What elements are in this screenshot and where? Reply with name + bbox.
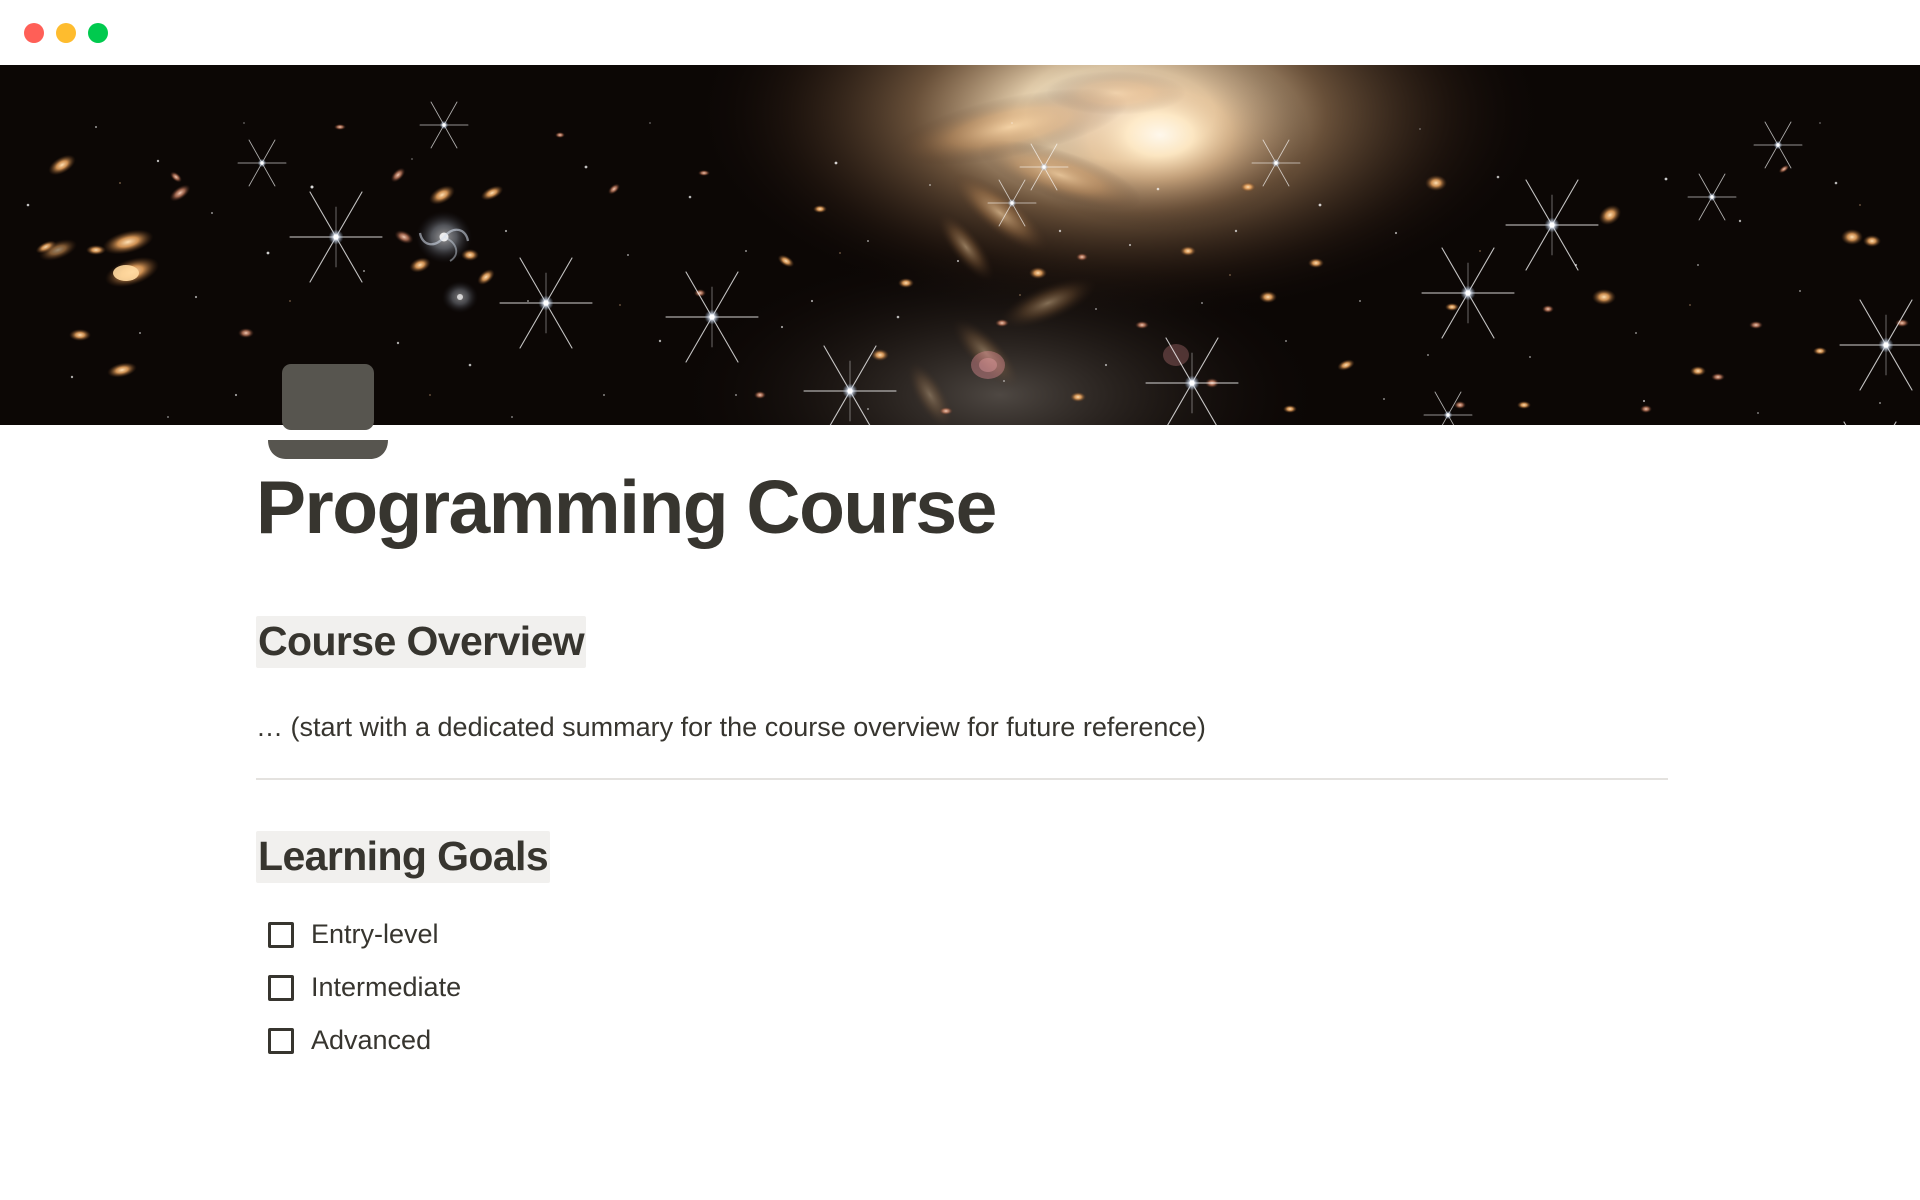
laptop-icon[interactable] (266, 360, 390, 464)
minimize-button[interactable] (56, 23, 76, 43)
checklist-item-label: Advanced (311, 1024, 431, 1056)
close-button[interactable] (24, 23, 44, 43)
checklist-item[interactable]: Intermediate (268, 961, 968, 1014)
heading-course-overview[interactable]: Course Overview (256, 617, 586, 665)
learning-goals-checklist: Entry-level Intermediate Advanced (268, 908, 968, 1067)
checkbox-icon[interactable] (268, 922, 294, 948)
page-content: Programming Course Course Overview … (st… (0, 425, 1920, 1200)
heading-learning-goals[interactable]: Learning Goals (256, 832, 550, 880)
page-title[interactable]: Programming Course (256, 470, 996, 545)
checklist-item[interactable]: Advanced (268, 1014, 968, 1067)
traffic-light-buttons (24, 23, 108, 43)
heading-learning-goals-label: Learning Goals (256, 831, 550, 883)
checklist-item-label: Intermediate (311, 971, 461, 1003)
checkbox-icon[interactable] (268, 1028, 294, 1054)
maximize-button[interactable] (88, 23, 108, 43)
window-titlebar (0, 0, 1920, 65)
checklist-item-label: Entry-level (311, 918, 439, 950)
section-divider (256, 778, 1668, 780)
checklist-item[interactable]: Entry-level (268, 908, 968, 961)
heading-course-overview-label: Course Overview (256, 616, 586, 668)
course-overview-body[interactable]: … (start with a dedicated summary for th… (256, 708, 1206, 747)
checkbox-icon[interactable] (268, 975, 294, 1001)
app-window: Programming Course Course Overview … (st… (0, 0, 1920, 1200)
